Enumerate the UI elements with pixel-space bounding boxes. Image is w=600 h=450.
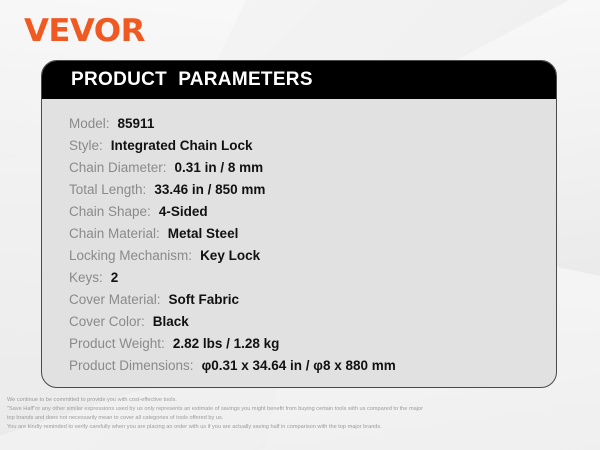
parameter-row-product-weight: Product Weight: 2.82 lbs / 1.28 kg [69, 336, 556, 358]
parameter-row-cover-color: Cover Color: Black [69, 314, 556, 336]
parameter-value: 0.31 in / 8 mm [175, 160, 264, 175]
parameter-row-keys: Keys: 2 [69, 270, 556, 292]
parameter-value: 2 [111, 270, 119, 285]
parameter-row-cover-material: Cover Material: Soft Fabric [69, 292, 556, 314]
parameter-value: 85911 [118, 116, 155, 131]
parameter-value: 33.46 in / 850 mm [154, 182, 265, 197]
parameter-label: Locking Mechanism: [69, 248, 192, 263]
parameter-row-locking-mechanism: Locking Mechanism: Key Lock [69, 248, 556, 270]
parameter-label: Chain Diameter: [69, 160, 167, 175]
parameter-row-total-length: Total Length: 33.46 in / 850 mm [69, 182, 556, 204]
parameter-row-style: Style: Integrated Chain Lock [69, 138, 556, 160]
product-parameters-page: VEVOR PRODUCT PARAMETERS Model: 85911 St… [0, 0, 600, 450]
parameter-value: Metal Steel [168, 226, 239, 241]
parameter-label: Keys: [69, 270, 103, 285]
parameter-label: Total Length: [69, 182, 146, 197]
disclaimer-line-1: We continue to be committed to provide y… [7, 396, 593, 405]
disclaimer-line-2: "Save Half"or any other similar expressi… [7, 405, 593, 414]
disclaimer-line-3: top brands and does not necessarily mean… [7, 414, 593, 423]
parameter-value: Key Lock [200, 248, 260, 263]
parameter-row-chain-shape: Chain Shape: 4-Sided [69, 204, 556, 226]
parameter-row-model: Model: 85911 [69, 116, 556, 138]
parameter-value: 2.82 lbs / 1.28 kg [173, 336, 280, 351]
card-header: PRODUCT PARAMETERS [42, 61, 556, 99]
parameter-row-chain-diameter: Chain Diameter: 0.31 in / 8 mm [69, 160, 556, 182]
parameter-value: Integrated Chain Lock [111, 138, 253, 153]
parameter-label: Cover Material: [69, 292, 161, 307]
parameter-label: Chain Material: [69, 226, 160, 241]
parameter-value: Soft Fabric [169, 292, 240, 307]
parameter-value: φ0.31 x 34.64 in / φ8 x 880 mm [202, 358, 396, 373]
vevor-logo: VEVOR [24, 16, 145, 47]
parameter-list: Model: 85911 Style: Integrated Chain Loc… [42, 99, 556, 380]
parameter-label: Cover Color: [69, 314, 145, 329]
parameter-label: Chain Shape: [69, 204, 151, 219]
page-title: PRODUCT PARAMETERS [71, 69, 313, 91]
disclaimer-line-4: You are kindly reminded to verify carefu… [7, 423, 593, 432]
parameter-label: Model: [69, 116, 110, 131]
parameter-label: Product Weight: [69, 336, 165, 351]
parameter-label: Style: [69, 138, 103, 153]
parameter-label: Product Dimensions: [69, 358, 194, 373]
parameter-value: 4-Sided [159, 204, 208, 219]
disclaimer-footer: We continue to be committed to provide y… [7, 396, 593, 432]
parameter-row-chain-material: Chain Material: Metal Steel [69, 226, 556, 248]
product-parameters-card: PRODUCT PARAMETERS Model: 85911 Style: I… [41, 60, 557, 388]
parameter-row-product-dimensions: Product Dimensions: φ0.31 x 34.64 in / φ… [69, 358, 556, 380]
parameter-value: Black [153, 314, 189, 329]
